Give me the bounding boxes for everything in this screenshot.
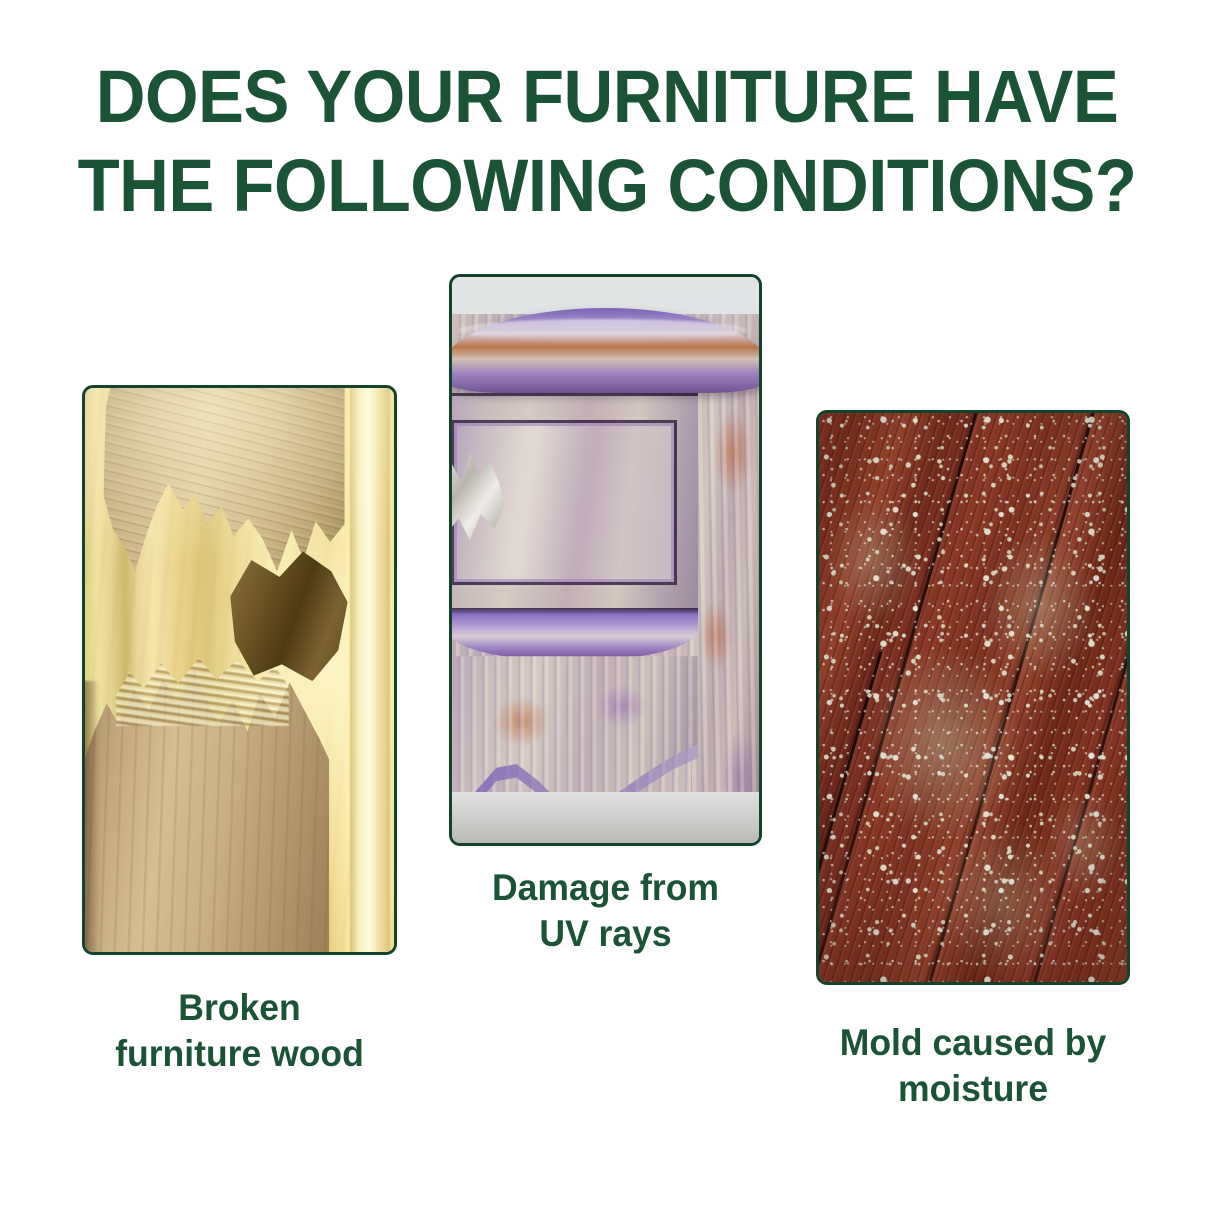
condition-card-mold-moisture bbox=[816, 410, 1130, 985]
uv-ray-damage-photo bbox=[452, 277, 759, 843]
condition-card-uv-damage bbox=[449, 274, 762, 846]
page-title-line-2: THE FOLLOWING CONDITIONS? bbox=[42, 141, 1171, 230]
nightstand-top-highlight bbox=[458, 319, 747, 342]
caption-uv-damage: Damage from UV rays bbox=[455, 865, 755, 957]
page-title: DOES YOUR FURNITURE HAVE THE FOLLOWING C… bbox=[42, 52, 1171, 230]
broken-furniture-wood-photo bbox=[85, 388, 394, 952]
photo-vignette bbox=[819, 413, 1127, 982]
photo-frame-mold-moisture bbox=[816, 410, 1130, 985]
caption-broken-furniture-wood: Broken furniture wood bbox=[88, 985, 390, 1077]
mold-moisture-photo bbox=[819, 413, 1127, 982]
photo-frame-uv-damage bbox=[449, 274, 762, 846]
floor-strip bbox=[452, 792, 759, 843]
nightstand-lower-rail-moulding bbox=[452, 608, 698, 659]
page-title-line-1: DOES YOUR FURNITURE HAVE bbox=[42, 52, 1171, 141]
photo-soft-focus-overlay bbox=[85, 388, 394, 952]
photo-frame-broken-furniture-wood bbox=[82, 385, 397, 955]
caption-mold-moisture: Mold caused by moisture bbox=[813, 1020, 1134, 1112]
condition-card-broken-furniture-wood bbox=[82, 385, 397, 955]
nightstand-side-post-wear bbox=[691, 351, 759, 843]
